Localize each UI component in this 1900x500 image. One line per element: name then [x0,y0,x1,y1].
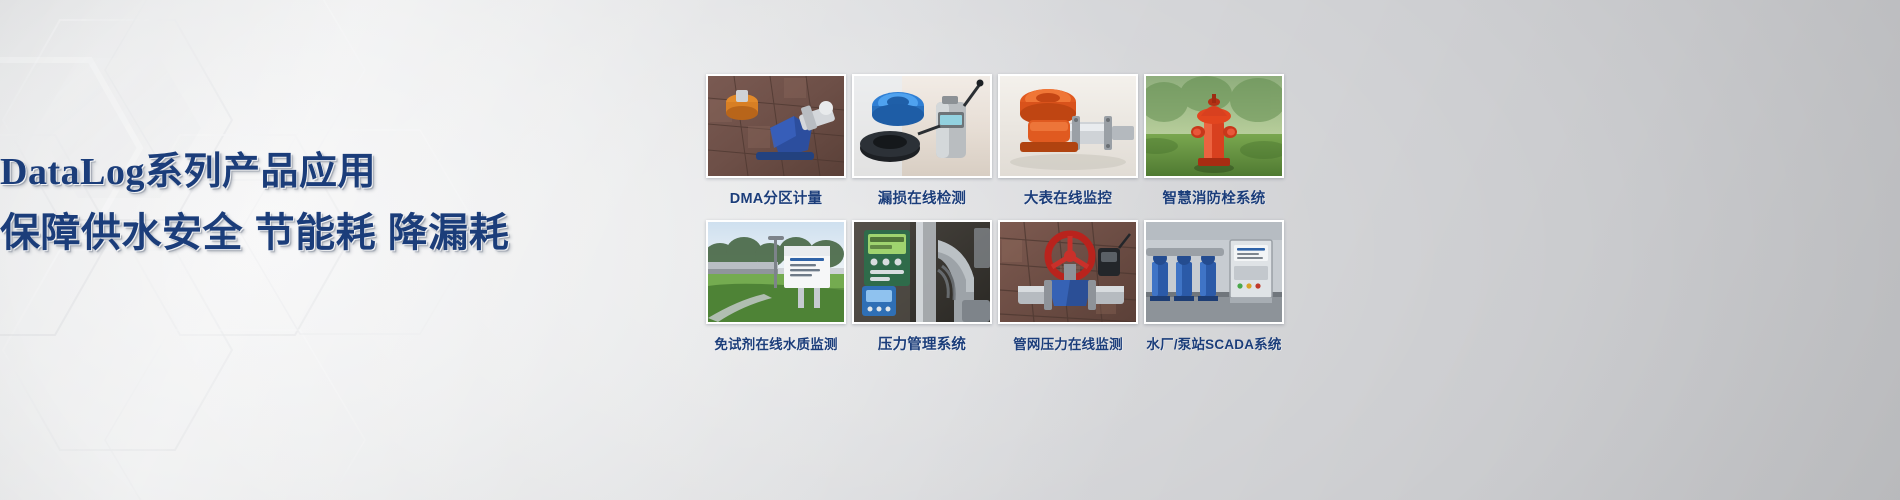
product-thumbnail[interactable] [852,74,992,178]
product-caption: 压力管理系统 [878,333,966,354]
product-application-banner: DataLog系列产品应用 保障供水安全 节能耗 降漏耗 [0,0,1900,500]
product-card-smart-hydrant[interactable]: 智慧消防栓系统 [1144,74,1284,212]
pressure-management-cabinet-photo [854,222,990,322]
headline-line-1: DataLog系列产品应用 [0,150,690,194]
product-thumbnail[interactable] [1144,74,1284,178]
product-card-large-meter-monitoring[interactable]: 大表在线监控 [998,74,1138,212]
product-caption: 大表在线监控 [1024,187,1112,208]
product-card-scada-system[interactable]: 水厂/泵站SCADA系统 [1144,220,1284,358]
product-caption: 漏损在线检测 [878,187,966,208]
product-thumbnail[interactable] [852,220,992,324]
product-caption: 管网压力在线监测 [1013,333,1123,353]
headline-line-2: 保障供水安全 节能耗 降漏耗 [0,208,690,258]
reagent-free-water-quality-station-photo [708,222,844,322]
leak-detection-sensor-photo [854,76,990,176]
product-card-pressure-management[interactable]: 压力管理系统 [852,220,992,358]
waterworks-pump-station-scada-photo [1146,222,1282,322]
product-thumbnail[interactable] [706,220,846,324]
product-thumbnail[interactable] [706,74,846,178]
product-grid: DMA分区计量 [706,74,1284,358]
product-card-leak-detection[interactable]: 漏损在线检测 [852,74,992,212]
product-card-pipe-pressure-monitoring[interactable]: 管网压力在线监测 [998,220,1138,358]
product-caption: DMA分区计量 [730,187,822,208]
product-thumbnail[interactable] [998,74,1138,178]
product-thumbnail[interactable] [1144,220,1284,324]
product-thumbnail[interactable] [998,220,1138,324]
product-caption: 免试剂在线水质监测 [714,333,837,353]
product-caption: 水厂/泵站SCADA系统 [1146,333,1281,353]
product-caption: 智慧消防栓系统 [1163,187,1266,208]
product-card-water-quality[interactable]: 免试剂在线水质监测 [706,220,846,358]
large-water-meter-photo [1000,76,1136,176]
pipe-network-pressure-valve-photo [1000,222,1136,322]
smart-fire-hydrant-photo [1146,76,1282,176]
dma-flow-meter-photo [708,76,844,176]
product-card-dma-metering[interactable]: DMA分区计量 [706,74,846,212]
